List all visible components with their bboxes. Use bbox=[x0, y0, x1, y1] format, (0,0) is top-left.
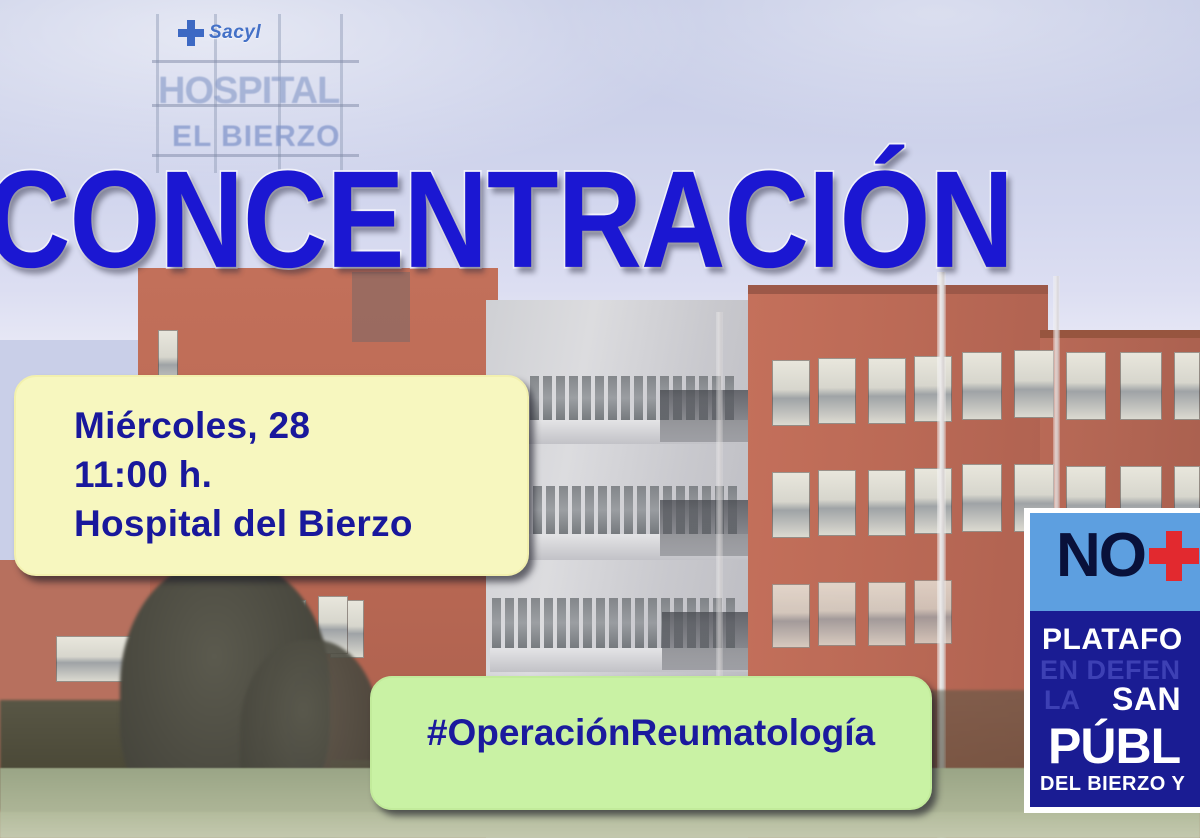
hashtag-text: #OperaciónReumatología bbox=[372, 712, 930, 754]
window bbox=[1174, 352, 1200, 420]
window bbox=[868, 358, 906, 424]
event-details-text: Miércoles, 28 11:00 h. Hospital del Bier… bbox=[74, 401, 413, 549]
event-date: Miércoles, 28 bbox=[74, 401, 413, 450]
banner-del-bierzo: DEL BIERZO Y bbox=[1040, 773, 1185, 796]
banner-plataforma: PLATAFO bbox=[1042, 623, 1183, 657]
sacyl-logo: Sacyl bbox=[178, 20, 261, 46]
banner-sanidad: SAN bbox=[1112, 681, 1181, 718]
event-details-box: Miércoles, 28 11:00 h. Hospital del Bier… bbox=[14, 375, 529, 576]
window bbox=[818, 470, 856, 536]
no-text: NO bbox=[1056, 525, 1145, 587]
window bbox=[1066, 352, 1106, 420]
platform-banner: NO PLATAFO EN DEFEN LA SAN PÚBL DEL BIER… bbox=[1024, 508, 1200, 813]
facade-shadow bbox=[660, 500, 756, 556]
event-time: 11:00 h. bbox=[74, 450, 413, 499]
medical-cross-icon bbox=[178, 20, 204, 46]
window bbox=[868, 470, 906, 536]
sacyl-label: Sacyl bbox=[209, 22, 261, 44]
window bbox=[914, 356, 952, 422]
banner-bottom-section: PLATAFO EN DEFEN LA SAN PÚBL DEL BIERZO … bbox=[1030, 611, 1200, 807]
window bbox=[818, 358, 856, 424]
banner-la: LA bbox=[1044, 685, 1080, 716]
sign-hospital-text: HOSPITAL bbox=[158, 70, 339, 113]
right-side-roof bbox=[1040, 330, 1200, 338]
window bbox=[914, 580, 952, 644]
window bbox=[914, 468, 952, 534]
facade-shadow bbox=[662, 612, 756, 670]
window bbox=[1014, 350, 1054, 418]
hashtag-box: #OperaciónReumatología bbox=[370, 676, 932, 810]
red-plus-icon bbox=[1149, 531, 1199, 581]
facade-shadow bbox=[660, 390, 756, 442]
window bbox=[962, 464, 1002, 532]
grass-foreground-near bbox=[0, 812, 1200, 838]
banner-top-section: NO bbox=[1030, 513, 1200, 611]
poster-image: Sacyl HOSPITAL EL BIERZO bbox=[0, 0, 1200, 838]
window bbox=[772, 584, 810, 648]
page-title: CONCENTRACIÓN bbox=[0, 150, 1200, 288]
window bbox=[772, 472, 810, 538]
window bbox=[962, 352, 1002, 420]
window bbox=[772, 360, 810, 426]
window bbox=[818, 582, 856, 646]
flagpole bbox=[1053, 276, 1060, 512]
window bbox=[1120, 352, 1162, 420]
event-location: Hospital del Bierzo bbox=[74, 499, 413, 548]
flagpole bbox=[716, 312, 723, 712]
no-plus-logo: NO bbox=[1056, 525, 1199, 587]
banner-publica: PÚBL bbox=[1048, 717, 1180, 775]
window bbox=[868, 582, 906, 646]
